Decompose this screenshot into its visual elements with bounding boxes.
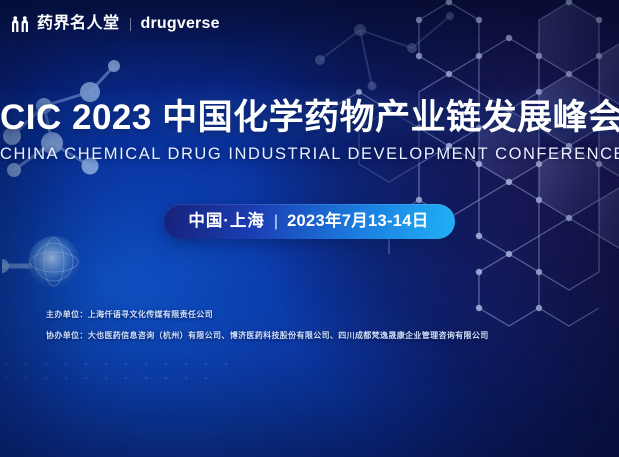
drugverse-arch-icon xyxy=(10,14,30,34)
brand-name-en: drugverse xyxy=(141,16,220,32)
brand-name-cn: 药界名人堂 xyxy=(37,16,120,32)
badge-separator: | xyxy=(274,214,278,230)
brand-logo[interactable]: 药界名人堂 drugverse xyxy=(10,14,220,34)
headline-block: CIC 2023 中国化学药物产业链发展峰会 CHINA CHEMICAL DR… xyxy=(0,100,619,162)
event-location: 中国·上海 xyxy=(188,213,265,230)
event-date: 2023年7月13-14日 xyxy=(287,213,428,230)
cohost-organizer-line: 协办单位：大也医药信息咨询（杭州）有限公司、博济医药科技股份有限公司、四川成都梵… xyxy=(46,332,489,340)
conference-title-cn: CIC 2023 中国化学药物产业链发展峰会 xyxy=(0,100,619,137)
conference-banner: 药界名人堂 drugverse CIC 2023 中国化学药物产业链发展峰会 C… xyxy=(0,0,619,457)
event-info-badge: 中国·上海 | 2023年7月13-14日 xyxy=(164,204,454,239)
host-organizer-line: 主办单位：上海仟语寻文化传媒有限责任公司 xyxy=(46,311,489,319)
brand-divider xyxy=(130,18,131,31)
organizer-block: 主办单位：上海仟语寻文化传媒有限责任公司 协办单位：大也医药信息咨询（杭州）有限… xyxy=(46,311,489,353)
event-info-badge-wrap: 中国·上海 | 2023年7月13-14日 xyxy=(0,204,619,239)
conference-title-en: CHINA CHEMICAL DRUG INDUSTRIAL DEVELOPME… xyxy=(0,146,619,163)
